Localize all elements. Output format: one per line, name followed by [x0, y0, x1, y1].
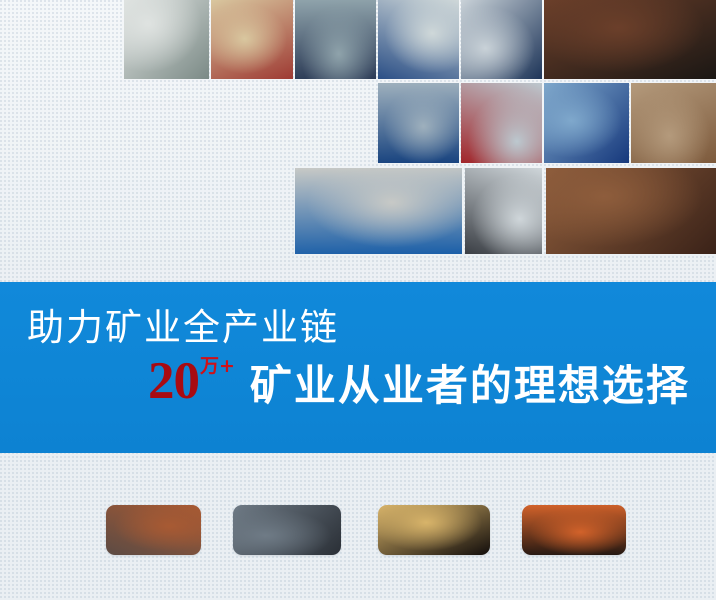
collage-photo	[631, 83, 716, 163]
thumbnail-strip	[0, 505, 716, 561]
collage-photo	[544, 83, 629, 163]
collage-photo	[465, 168, 542, 254]
photo-collage	[0, 0, 716, 256]
collage-photo	[295, 168, 462, 254]
headline-line-1: 助力矿业全产业链	[27, 307, 339, 349]
headline-banner: 助力矿业全产业链 20 万+ 矿业从业者的理想选择	[0, 282, 716, 453]
collage-photo	[211, 0, 293, 79]
collage-photo	[378, 83, 459, 163]
collage-photo	[461, 0, 542, 79]
collage-photo	[295, 0, 376, 79]
headline-number-unit: 万+	[200, 357, 235, 376]
thumbnail-item	[378, 505, 490, 555]
headline-line-2: 20 万+ 矿业从业者的理想选择	[148, 355, 690, 408]
collage-photo	[378, 0, 459, 79]
collage-photo	[461, 83, 542, 163]
thumbnail-item	[522, 505, 626, 555]
thumbnail-item	[233, 505, 341, 555]
headline-number: 20	[148, 355, 199, 408]
collage-photo	[124, 0, 209, 79]
collage-photo	[544, 0, 716, 79]
collage-photo	[546, 168, 716, 254]
thumbnail-item	[106, 505, 201, 555]
headline-phrase: 矿业从业者的理想选择	[250, 364, 690, 408]
promo-banner-page: 助力矿业全产业链 20 万+ 矿业从业者的理想选择	[0, 0, 716, 600]
